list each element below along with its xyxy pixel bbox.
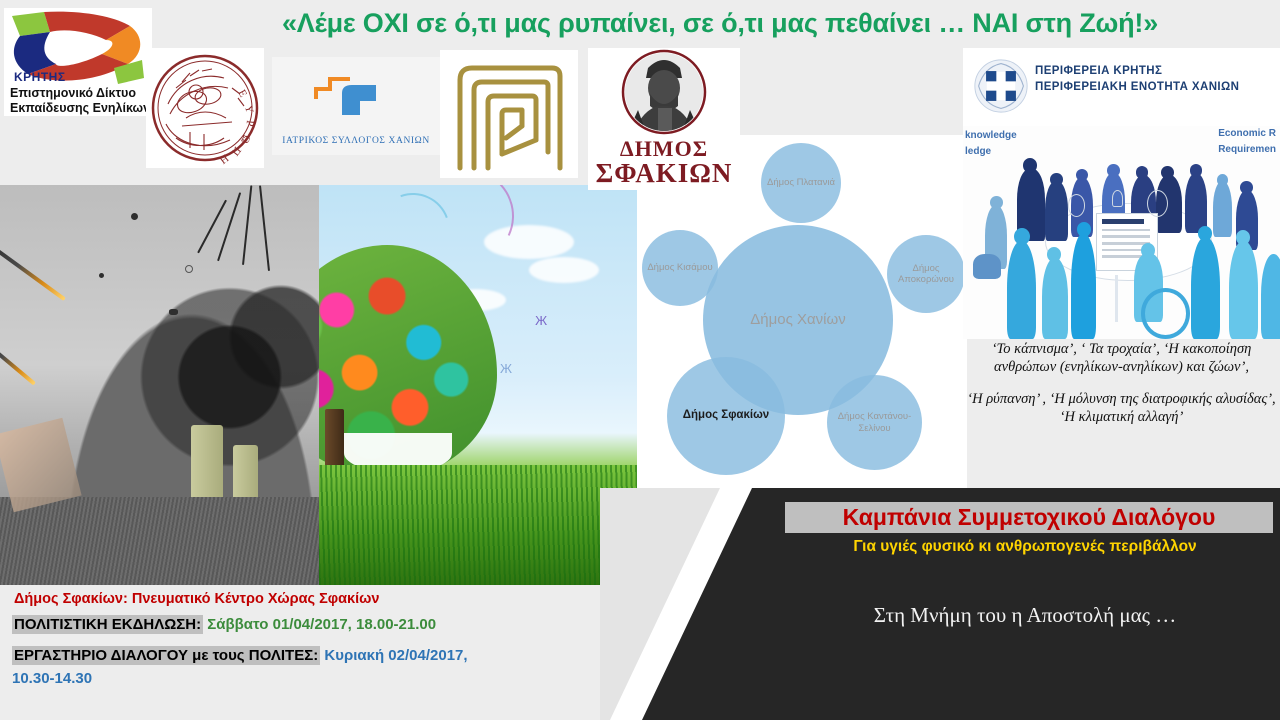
butterfly-icon: Ж (500, 361, 512, 376)
table-leg (1115, 275, 1118, 322)
silhouette-person (1045, 181, 1067, 241)
event-date-cultural: Σάββατο 01/04/2017, 18.00-21.00 (207, 616, 436, 633)
event-date-workshop: Κυριακή 02/04/2017, (324, 647, 467, 664)
sfakion-portrait-icon (588, 48, 740, 140)
region-line2: ΠΕΡΙΦΕΡΕΙΑΚΗ ΕΝΟΤΗΤΑ ΧΑΝΙΩΝ (1035, 81, 1239, 93)
event-label-workshop: ΕΡΓΑΣΤΗΡΙΟ ΔΙΑΛΟΓΟΥ με τους ΠΟΛΙΤΕΣ: (12, 646, 320, 665)
green-grass (319, 465, 638, 585)
silhouette-head (1198, 226, 1212, 241)
medical-association-icon (272, 57, 440, 135)
medical-association-caption: ΙΑΤΡΙΚΟΣ ΣΥΛΛΟΓΟΣ ΧΑΝΙΩΝ (272, 136, 440, 146)
silhouette-head (1014, 228, 1030, 245)
logo-maze (440, 50, 578, 178)
photo-caption-knowledge: knowledge (965, 130, 1017, 141)
silhouette-head (1217, 174, 1228, 186)
photo-half-healthy: Ж Ж Ж (319, 185, 638, 585)
campaign-panel: Καμπάνια Συμμετοχικού Διαλόγου Για υγιές… (600, 488, 1280, 720)
lightbulb-icon (1112, 190, 1124, 207)
bubble-sfakion[interactable]: Δήμος Σφακίων (667, 357, 785, 475)
silhouette-person (1229, 241, 1258, 339)
europi-seal-icon: Ε Υ Ρ Ω Π Η (146, 48, 264, 168)
wheelchair-wheel-icon (1141, 288, 1190, 339)
silhouette-head (1236, 230, 1250, 245)
logo-region-crete: ΠΕΡΙΦΕΡΕΙΑ ΚΡΗΤΗΣ ΠΕΡΙΦΕΡΕΙΑΚΗ ΕΝΟΤΗΤΑ Χ… (963, 48, 1280, 126)
silhouette-person (1261, 254, 1280, 339)
greek-coat-of-arms-icon (973, 58, 1029, 114)
maze-icon (440, 50, 578, 178)
event-info-block: Δήμος Σφακίων: Πνευματικό Κέντρο Χώρας Σ… (0, 582, 650, 720)
bubble-apokoronou[interactable]: Δήμος Αποκορώνου (887, 235, 965, 313)
topics-block-1: ‘Το κάπνισμα’, ‘ Τα τροχαία’, ‘Η κακοποί… (963, 340, 1280, 377)
bubble-platania[interactable]: Δήμος Πλατανιά (761, 143, 841, 223)
photo-caption-requirements: Requiremen (1218, 144, 1276, 155)
svg-text:Ρ: Ρ (243, 120, 255, 127)
photo-half-polluted (0, 185, 319, 585)
edee-line1: Επιστημονικό Δίκτυο (10, 86, 136, 100)
topics-block-2: ‘Η ρύπανση’ , ‘Η μόλυνση της διατροφικής… (963, 390, 1280, 427)
region-line1: ΠΕΡΙΦΕΡΕΙΑ ΚΡΗΤΗΣ (1035, 65, 1162, 77)
silhouette-head (1161, 166, 1174, 179)
clock-icon (1147, 190, 1168, 218)
logo-europi-seal: Ε Υ Ρ Ω Π Η (146, 48, 264, 168)
logo-edee: ΚΡΗΤΗΣ Επιστημονικό Δίκτυο Εκπαίδευσης Ε… (4, 8, 152, 116)
silhouette-person (1185, 173, 1207, 233)
document-title-bar (1102, 219, 1144, 225)
page-title: «Λέμε ΟΧΙ σε ό,τι μας ρυπαίνει, σε ό,τι … (170, 8, 1270, 39)
silhouette-head (990, 196, 1003, 209)
edee-kritis-label: ΚΡΗΤΗΣ (14, 70, 66, 84)
topics-quotes: ‘Το κάπνισμα’, ‘ Τα τροχαία’, ‘Η κακοποί… (963, 340, 1280, 495)
silhouette-person (1042, 258, 1067, 339)
photo-caption-economic: Economic R (1218, 128, 1276, 139)
campaign-title: Καμπάνια Συμμετοχικού Διαλόγου (785, 502, 1273, 533)
falling-debris-icon (0, 337, 36, 385)
campaign-subtitle: Για υγιές φυσικό κι ανθρωπογενές περιβάλ… (775, 538, 1275, 556)
silhouette-person (1007, 241, 1036, 339)
silhouette-person-running (1071, 233, 1096, 340)
butterfly-icon: Ж (535, 313, 547, 328)
svg-text:Υ: Υ (242, 104, 255, 114)
split-tree-photo: Ж Ж Ж (0, 185, 637, 585)
sfakion-line2: ΣΦΑΚΙΩΝ (588, 158, 740, 189)
silhouette-head (1141, 243, 1155, 258)
europi-text: Ε (235, 88, 249, 100)
falling-debris-icon (0, 241, 66, 300)
dead-ground (0, 497, 319, 585)
event-row-cultural: ΠΟΛΙΤΙΣΤΙΚΗ ΕΚΔΗΛΩΣΗ: Σάββατο 01/04/2017… (12, 616, 436, 633)
bubble-kantanou-selinou[interactable]: Δήμος Καντάνου-Σελίνου (827, 375, 922, 470)
poster-canvas: «Λέμε ΟΧΙ σε ό,τι μας ρυπαίνει, σε ό,τι … (0, 0, 1280, 720)
event-venue: Δήμος Σφακίων: Πνευματικό Κέντρο Χώρας Σ… (14, 591, 379, 607)
event-row-workshop: ΕΡΓΑΣΤΗΡΙΟ ΔΙΑΛΟΓΟΥ με τους ΠΟΛΙΤΕΣ: Κυρ… (12, 647, 468, 664)
event-label-cultural: ΠΟΛΙΤΙΣΤΙΚΗ ΕΚΔΗΛΩΣΗ: (12, 615, 203, 634)
silhouette-person (1213, 181, 1232, 236)
participation-illustration: knowledge ledge Economic R Requiremen (963, 126, 1280, 339)
logo-medical-association: ΙΑΤΡΙΚΟΣ ΣΥΛΛΟΓΟΣ ΧΑΝΙΩΝ (272, 57, 440, 155)
silhouette-head (1050, 173, 1063, 186)
logo-municipality-sfakion: ΔΗΜΟΣ ΣΦΑΚΙΩΝ (588, 48, 740, 190)
silhouette-person (1191, 237, 1220, 339)
silhouette-head (1077, 222, 1091, 237)
photo-caption-ledge: ledge (965, 146, 991, 157)
silhouette-head (1107, 164, 1120, 177)
event-time-workshop: 10.30-14.30 (12, 670, 92, 687)
bubble-kisamou[interactable]: Δήμος Κισάμου (642, 230, 718, 306)
edee-line2: Εκπαίδευσης Ενηλίκων (10, 101, 150, 115)
dog-silhouette (973, 254, 1002, 280)
campaign-memorial: Στη Μνήμη του η Αποστολή μας … (775, 603, 1275, 628)
